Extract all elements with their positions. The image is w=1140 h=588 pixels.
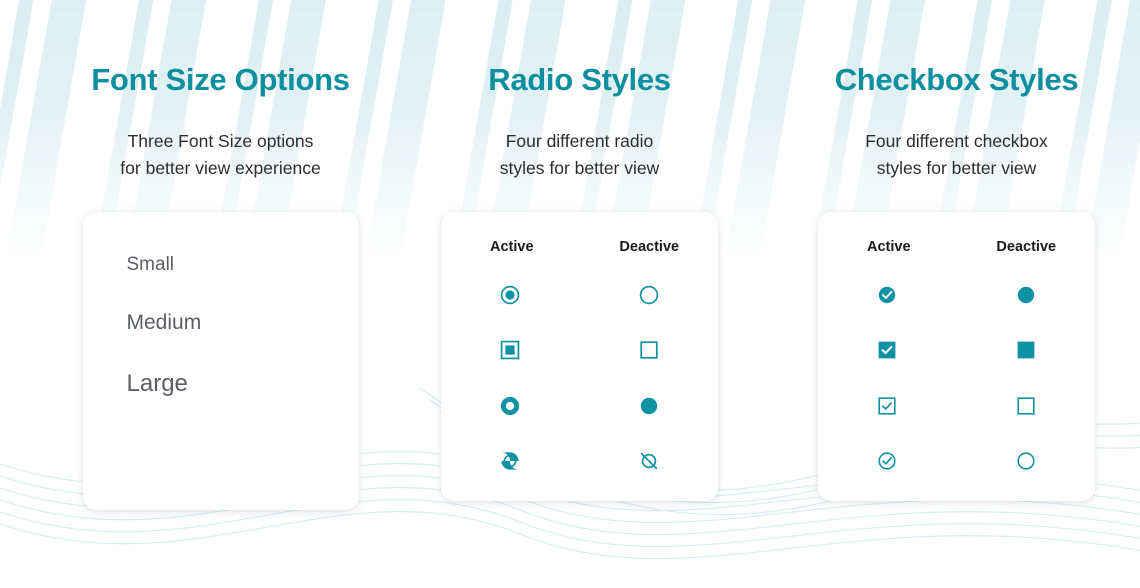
check-circle-filled-icon[interactable] bbox=[818, 285, 957, 305]
subtitle-radio: Four different radio styles for better v… bbox=[404, 128, 755, 182]
square-filled-icon[interactable] bbox=[957, 340, 1096, 360]
check-circle-outline-icon[interactable] bbox=[818, 451, 957, 471]
radio-slash-outline-icon[interactable] bbox=[580, 450, 719, 472]
radio-column-headers: Active Deactive bbox=[441, 212, 718, 255]
radio-ring-empty-icon[interactable] bbox=[580, 284, 719, 306]
subtitle-line: styles for better view bbox=[404, 155, 755, 182]
font-size-card: Small Medium Large bbox=[83, 212, 359, 510]
radio-style-row bbox=[441, 378, 718, 434]
font-option-large[interactable]: Large bbox=[127, 370, 359, 398]
subtitle-line: for better view experience bbox=[46, 155, 395, 182]
radio-square-empty-icon[interactable] bbox=[580, 339, 719, 361]
radio-disc-icon[interactable] bbox=[580, 395, 719, 417]
subtitle-font-size: Three Font Size options for better view … bbox=[46, 128, 395, 182]
column-header-deactive: Deactive bbox=[581, 239, 719, 255]
font-size-panel: Font Size Options Three Font Size option… bbox=[0, 0, 395, 510]
subtitle-checkbox: Four different checkbox styles for bette… bbox=[773, 128, 1140, 182]
square-outline-icon[interactable] bbox=[957, 396, 1096, 416]
check-square-filled-icon[interactable] bbox=[818, 340, 957, 360]
circle-outline-icon[interactable] bbox=[957, 451, 1096, 471]
checkbox-style-row bbox=[818, 323, 1095, 379]
radio-style-row bbox=[441, 434, 718, 490]
radio-styles-card: Active Deactive bbox=[441, 212, 718, 501]
page-title-radio: Radio Styles bbox=[404, 62, 755, 98]
radio-rows bbox=[441, 255, 718, 489]
panel-columns: Font Size Options Three Font Size option… bbox=[0, 0, 1140, 510]
checkbox-styles-card: Active Deactive bbox=[818, 212, 1095, 501]
column-header-active: Active bbox=[820, 239, 958, 255]
subtitle-line: styles for better view bbox=[773, 155, 1140, 182]
page-title-font-size: Font Size Options bbox=[46, 62, 395, 98]
radio-donut-icon[interactable] bbox=[441, 395, 580, 417]
subtitle-line: Four different checkbox bbox=[773, 128, 1140, 155]
checkbox-column-headers: Active Deactive bbox=[818, 212, 1095, 255]
font-option-medium[interactable]: Medium bbox=[127, 311, 359, 335]
radio-square-filled-icon[interactable] bbox=[441, 339, 580, 361]
radio-styles-panel: Radio Styles Four different radio styles… bbox=[395, 0, 755, 510]
radio-ring-dot-icon[interactable] bbox=[441, 284, 580, 306]
checkbox-style-row bbox=[818, 434, 1095, 490]
circle-filled-icon[interactable] bbox=[957, 285, 1096, 305]
subtitle-line: Four different radio bbox=[404, 128, 755, 155]
checkbox-styles-panel: Checkbox Styles Four different checkbox … bbox=[755, 0, 1140, 510]
checkbox-style-row bbox=[818, 267, 1095, 323]
column-header-active: Active bbox=[443, 239, 581, 255]
font-option-small[interactable]: Small bbox=[127, 254, 359, 276]
page-title-checkbox: Checkbox Styles bbox=[773, 62, 1140, 98]
subtitle-line: Three Font Size options bbox=[46, 128, 395, 155]
radio-style-row bbox=[441, 323, 718, 379]
radio-slash-filled-icon[interactable] bbox=[441, 450, 580, 472]
checkbox-style-row bbox=[818, 378, 1095, 434]
radio-style-row bbox=[441, 267, 718, 323]
check-square-outline-icon[interactable] bbox=[818, 396, 957, 416]
checkbox-rows bbox=[818, 255, 1095, 489]
column-header-deactive: Deactive bbox=[958, 239, 1096, 255]
